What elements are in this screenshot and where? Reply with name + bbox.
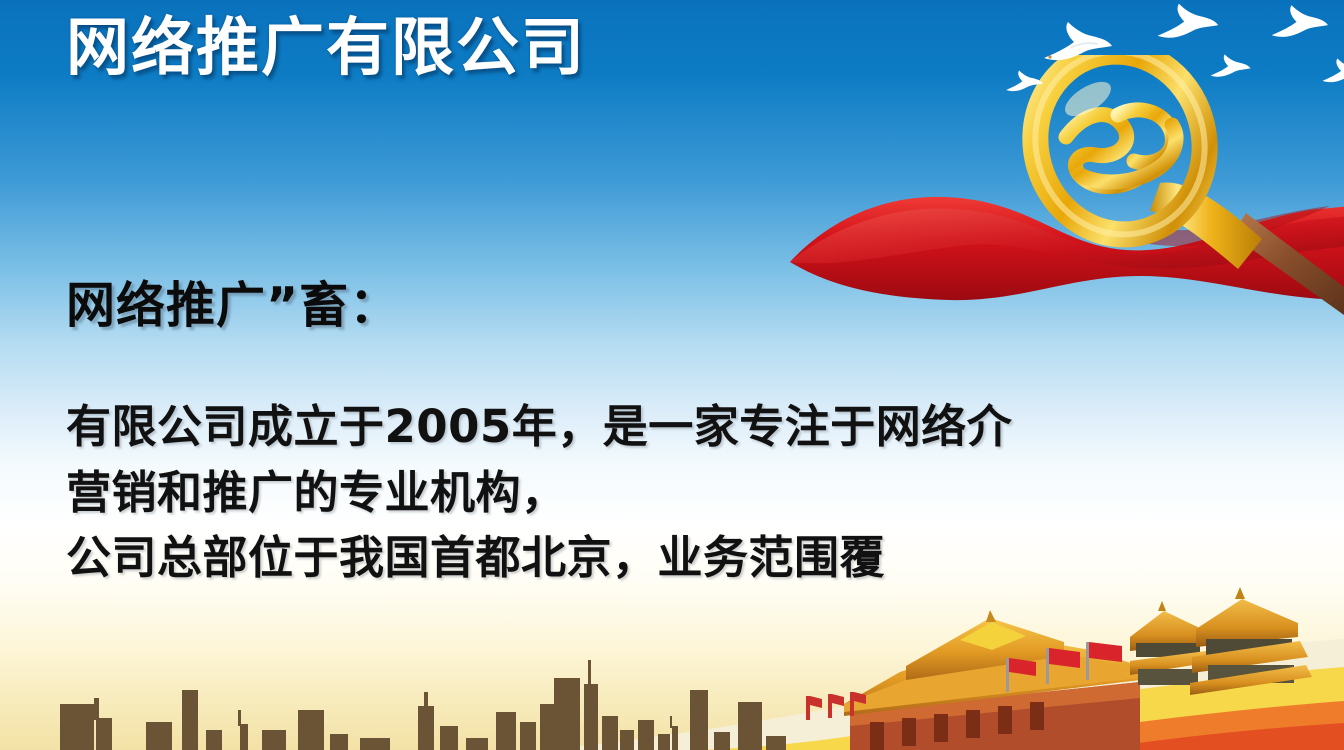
body-line: 公司总部位于我国首都北京，业务范围覆 [66,529,1326,587]
dove-icon [1004,68,1044,100]
section-heading: 网络推广”畜： [66,279,399,333]
color-swoosh [0,615,1344,750]
dove-icon [1268,2,1330,50]
dove-icon [1208,52,1252,86]
city-skyline-icon [0,660,900,750]
dove-icon [1320,56,1344,92]
tiananmen-gate-icon [840,600,1160,750]
dove-icon [1154,0,1220,52]
promo-poster: 网络推广有限公司 网络推广”畜： 有限公司成立于2005年，是一家专注于网络介 … [0,0,1344,750]
body-line: 有限公司成立于2005年，是一家专注于网络介 [66,398,1326,456]
palace-pagodas-icon [1130,585,1344,705]
page-title: 网络推广有限公司 [66,12,586,84]
decoration-layer [0,0,1344,750]
golden-key-icon [1010,55,1344,315]
dove-icon [1040,18,1114,76]
body-line: 营销和推广的专业机构， [66,464,1326,522]
body-text-block: 有限公司成立于2005年，是一家专注于网络介 营销和推广的专业机构， 公司总部位… [66,398,1326,595]
red-ribbon [770,150,1344,350]
